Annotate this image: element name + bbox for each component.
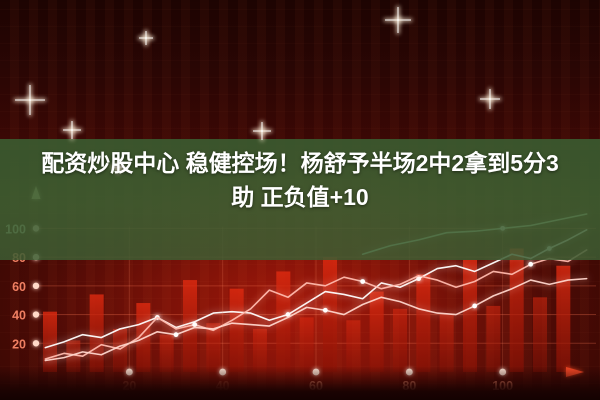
background-bottom-fade bbox=[0, 366, 600, 400]
image-canvas: 2040608010020406080100 配资炒股中心 稳健控场！杨舒予半场… bbox=[0, 0, 600, 400]
svg-text:20: 20 bbox=[12, 337, 26, 351]
headline: 配资炒股中心 稳健控场！杨舒予半场2中2拿到5分3 助 正负值+10 bbox=[0, 146, 600, 214]
svg-text:40: 40 bbox=[12, 309, 26, 323]
svg-text:60: 60 bbox=[12, 280, 26, 294]
headline-line-1: 配资炒股中心 稳健控场！杨舒予半场2中2拿到5分3 bbox=[41, 150, 559, 176]
chart-bars bbox=[43, 248, 570, 372]
headline-line-2: 助 正负值+10 bbox=[0, 180, 600, 214]
